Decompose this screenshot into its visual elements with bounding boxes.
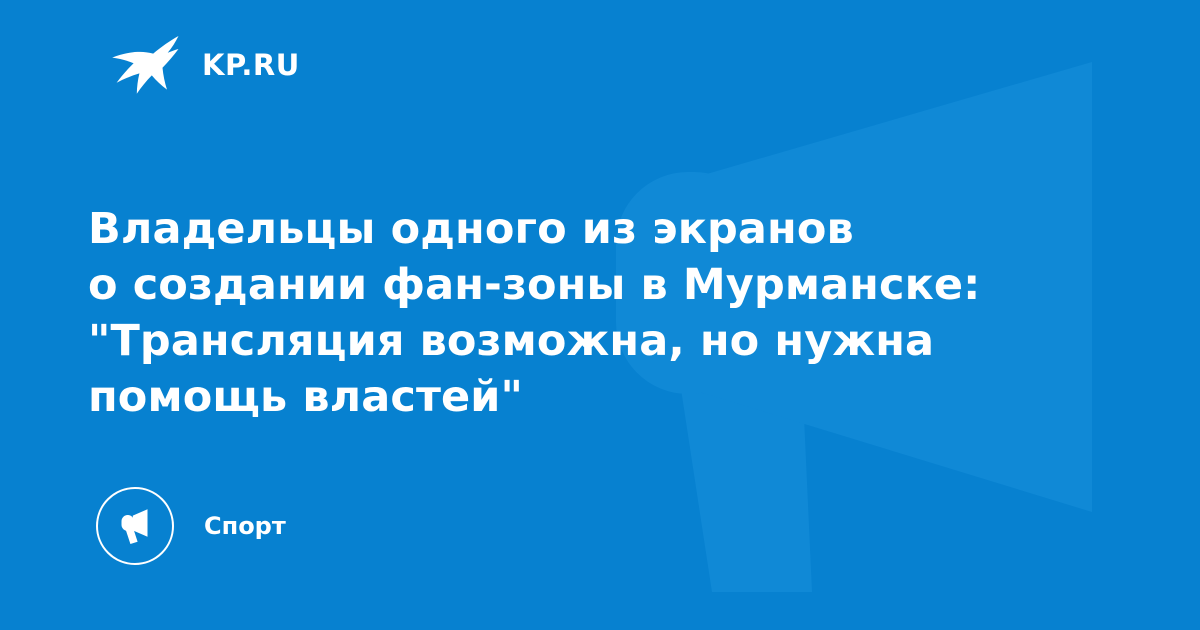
category-label: Спорт — [204, 514, 286, 538]
swallow-bird-icon — [104, 34, 180, 96]
headline-line-2: о создании фан-зоны в Мурманске: — [88, 257, 1048, 313]
headline-line-1: Владельцы одного из экранов — [88, 201, 1048, 257]
category-icon-badge — [96, 487, 174, 565]
brand-logo[interactable]: KP.RU — [104, 34, 300, 96]
category-tag[interactable]: Спорт — [96, 486, 286, 566]
article-share-card: KP.RU Владельцы одного из экранов о созд… — [0, 0, 1200, 630]
headline: Владельцы одного из экранов о создании ф… — [88, 201, 1048, 425]
megaphone-icon — [113, 506, 157, 546]
headline-line-4: помощь властей" — [88, 369, 1048, 425]
brand-name-label: KP.RU — [202, 51, 300, 80]
headline-line-3: "Трансляция возможна, но нужна — [88, 313, 1048, 369]
